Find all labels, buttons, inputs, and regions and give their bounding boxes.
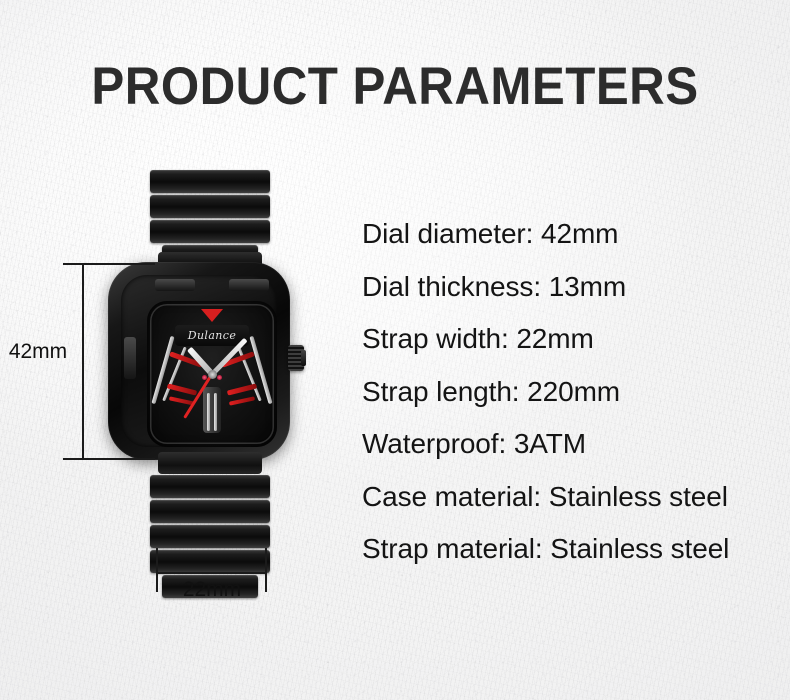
dimension-label-22mm: 22mm bbox=[152, 578, 272, 602]
product-image-watch: Dulance bbox=[95, 170, 325, 590]
dial-12-marker bbox=[201, 309, 223, 322]
spec-row: Waterproof: 3ATM bbox=[362, 418, 786, 471]
dimension-tick-bottom bbox=[63, 458, 155, 460]
watch-dial: Dulance bbox=[147, 301, 277, 447]
spec-row: Dial thickness: 13mm bbox=[362, 261, 786, 314]
watch-bezel: Dulance bbox=[121, 275, 277, 447]
spec-row: Strap length: 220mm bbox=[362, 366, 786, 419]
dimension-line-vertical bbox=[82, 264, 84, 460]
lug-lower bbox=[158, 452, 262, 474]
spec-row: Strap width: 22mm bbox=[362, 313, 786, 366]
dimension-tick-top bbox=[63, 263, 155, 265]
dimension-line-horizontal bbox=[157, 572, 267, 574]
spec-row: Case material: Stainless steel bbox=[362, 471, 786, 524]
dial-pinion bbox=[208, 370, 217, 379]
dimension-label-42mm: 42mm bbox=[0, 340, 76, 364]
spec-row: Strap material: Stainless steel bbox=[362, 523, 786, 576]
watch-case: Dulance bbox=[108, 262, 290, 460]
specification-list: Dial diameter: 42mm Dial thickness: 13mm… bbox=[362, 208, 786, 576]
watch-crown-cap bbox=[301, 350, 306, 366]
product-parameters-page: PRODUCT PARAMETERS bbox=[0, 0, 790, 700]
spec-row: Dial diameter: 42mm bbox=[362, 208, 786, 261]
page-title: PRODUCT PARAMETERS bbox=[28, 58, 763, 116]
brand-logo-text: Dulance bbox=[188, 329, 237, 342]
